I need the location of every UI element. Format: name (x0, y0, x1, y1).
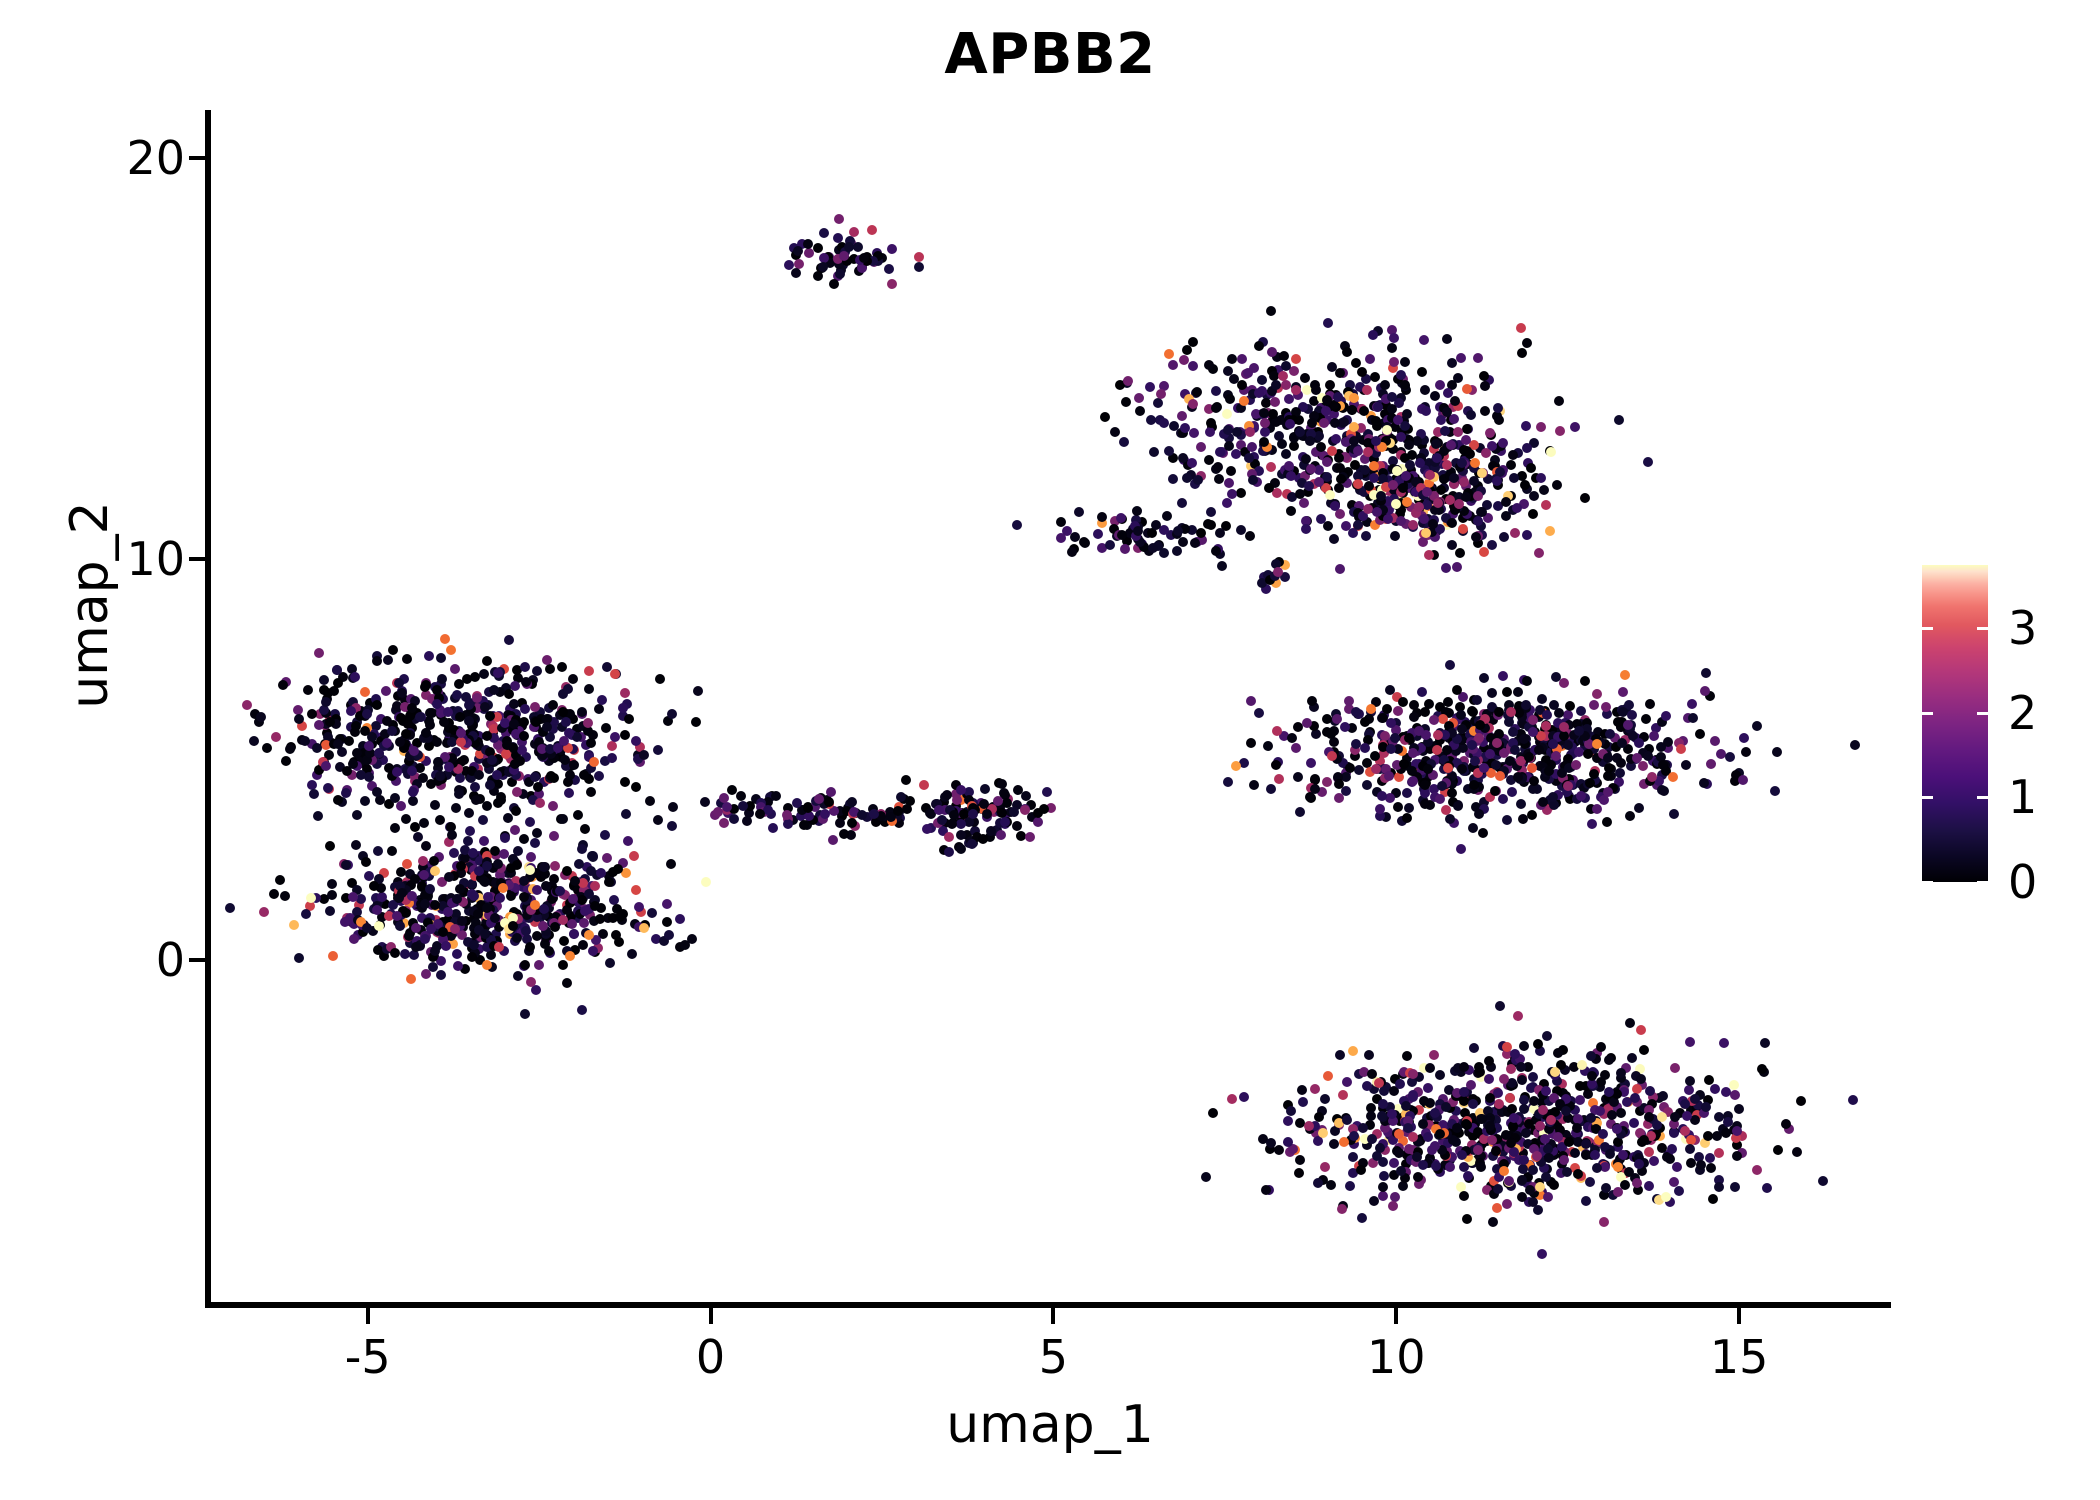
scatter-point (539, 904, 549, 914)
scatter-point (956, 830, 966, 840)
scatter-point (1457, 724, 1467, 734)
scatter-point (693, 686, 703, 696)
scatter-point (1570, 422, 1580, 432)
x-tick-label: -5 (345, 1330, 391, 1384)
scatter-point (1555, 426, 1565, 436)
scatter-point (1110, 427, 1120, 437)
scatter-point (1105, 540, 1115, 550)
scatter-point (1463, 1171, 1473, 1181)
scatter-point (610, 732, 620, 742)
scatter-point (443, 707, 453, 717)
scatter-point (390, 823, 400, 833)
scatter-point (634, 902, 644, 912)
scatter-point (1741, 747, 1751, 757)
scatter-point (444, 762, 454, 772)
scatter-point (1719, 1038, 1729, 1048)
scatter-point (1592, 1163, 1602, 1173)
scatter-point (1469, 1043, 1479, 1053)
scatter-point (847, 818, 857, 828)
scatter-point (1360, 743, 1370, 753)
scatter-point (520, 1009, 530, 1019)
scatter-point (387, 846, 397, 856)
scatter-point (1279, 351, 1289, 361)
scatter-point (1848, 1095, 1858, 1105)
scatter-point (1323, 521, 1333, 531)
scatter-point (1668, 772, 1678, 782)
scatter-point (1281, 380, 1291, 390)
scatter-point (1564, 1137, 1574, 1147)
scatter-point (1674, 1186, 1684, 1196)
scatter-point (454, 679, 464, 689)
scatter-point (1796, 1096, 1806, 1106)
scatter-point (914, 262, 924, 272)
scatter-point (1266, 306, 1276, 316)
scatter-point (1100, 412, 1110, 422)
scatter-point (1188, 337, 1198, 347)
scatter-point (548, 700, 558, 710)
scatter-point (1526, 463, 1536, 473)
scatter-point (498, 883, 508, 893)
scatter-plot-canvas (210, 110, 1890, 1305)
scatter-point (301, 909, 311, 919)
scatter-point (1025, 832, 1035, 842)
scatter-point (333, 795, 343, 805)
scatter-point (1388, 1201, 1398, 1211)
scatter-point (1420, 799, 1430, 809)
colorbar-tick-label: 1 (2008, 770, 2037, 824)
scatter-point (1624, 1167, 1634, 1177)
scatter-point (333, 678, 343, 688)
scatter-point (1362, 385, 1372, 395)
scatter-point (1596, 1042, 1606, 1052)
scatter-point (620, 730, 630, 740)
scatter-point (1148, 543, 1158, 553)
scatter-point (1227, 354, 1237, 364)
scatter-point (1295, 1155, 1305, 1165)
y-axis-label: umap_2 (60, 305, 120, 905)
scatter-point (394, 678, 404, 688)
scatter-point (1499, 1166, 1509, 1176)
scatter-point (1534, 548, 1544, 558)
scatter-point (829, 279, 839, 289)
scatter-point (569, 760, 579, 770)
scatter-point (1554, 396, 1564, 406)
scatter-point (1509, 1147, 1519, 1157)
scatter-point (372, 905, 382, 915)
scatter-point (479, 836, 489, 846)
scatter-point (1509, 473, 1519, 483)
scatter-point (1226, 466, 1236, 476)
scatter-point (249, 736, 259, 746)
scatter-point (1462, 1120, 1472, 1130)
scatter-point (1459, 1191, 1469, 1201)
colorbar[interactable] (1922, 565, 1988, 882)
scatter-point (328, 951, 338, 961)
scatter-point (492, 770, 502, 780)
scatter-point (1580, 676, 1590, 686)
scatter-point (1380, 380, 1390, 390)
scatter-point (567, 919, 577, 929)
scatter-point (1586, 1051, 1596, 1061)
colorbar-tick-mark (1922, 881, 1933, 884)
scatter-point (1274, 1145, 1284, 1155)
scatter-point (504, 635, 514, 645)
scatter-point (1661, 711, 1671, 721)
scatter-point (275, 875, 285, 885)
scatter-point (1616, 758, 1626, 768)
scatter-point (584, 930, 594, 940)
scatter-point (1310, 784, 1320, 794)
scatter-point (1607, 1110, 1617, 1120)
scatter-point (1589, 700, 1599, 710)
scatter-point (452, 894, 462, 904)
scatter-point (1420, 385, 1430, 395)
scatter-point (956, 819, 966, 829)
scatter-point (485, 780, 495, 790)
scatter-point (454, 789, 464, 799)
scatter-point (1445, 1162, 1455, 1172)
scatter-point (1146, 415, 1156, 425)
scatter-point (1418, 537, 1428, 547)
scatter-point (1442, 334, 1452, 344)
scatter-point (406, 974, 416, 984)
scatter-point (271, 732, 281, 742)
scatter-point (397, 888, 407, 898)
scatter-point (1398, 697, 1408, 707)
scatter-point (1259, 437, 1269, 447)
scatter-point (1752, 1165, 1762, 1175)
scatter-point (1669, 809, 1679, 819)
scatter-point (1375, 1143, 1385, 1153)
scatter-point (565, 951, 575, 961)
scatter-point (1625, 1018, 1635, 1028)
scatter-point (618, 909, 628, 919)
scatter-point (1521, 421, 1531, 431)
scatter-point (1383, 514, 1393, 524)
scatter-point (828, 835, 838, 845)
scatter-point (1468, 823, 1478, 833)
scatter-point (1484, 1074, 1494, 1084)
scatter-point (1546, 447, 1556, 457)
scatter-point (1314, 477, 1324, 487)
scatter-point (1270, 397, 1280, 407)
scatter-point (1605, 1149, 1615, 1159)
scatter-point (934, 805, 944, 815)
scatter-point (1415, 458, 1425, 468)
scatter-point (1322, 777, 1332, 787)
scatter-point (1559, 1155, 1569, 1165)
scatter-point (426, 779, 436, 789)
scatter-point (262, 743, 272, 753)
scatter-point (620, 777, 630, 787)
scatter-point (691, 717, 701, 727)
scatter-point (1455, 548, 1465, 558)
scatter-point (1522, 443, 1532, 453)
scatter-point (978, 834, 988, 844)
scatter-point (602, 853, 612, 863)
scatter-point (420, 899, 430, 909)
scatter-point (500, 833, 510, 843)
scatter-point (1575, 1095, 1585, 1105)
scatter-point (530, 838, 540, 848)
scatter-point (1549, 700, 1559, 710)
scatter-point (639, 750, 649, 760)
scatter-point (655, 674, 665, 684)
scatter-point (1305, 436, 1315, 446)
scatter-point (647, 908, 657, 918)
scatter-point (450, 664, 460, 674)
scatter-point (1337, 1204, 1347, 1214)
scatter-point (1649, 1156, 1659, 1166)
scatter-point (1473, 353, 1483, 363)
scatter-point (1364, 1050, 1374, 1060)
scatter-point (1389, 357, 1399, 367)
scatter-point (884, 264, 894, 274)
scatter-point (1056, 517, 1066, 527)
scatter-point (1519, 1041, 1529, 1051)
scatter-point (1325, 380, 1335, 390)
scatter-point (1710, 1084, 1720, 1094)
scatter-point (495, 893, 505, 903)
scatter-point (409, 746, 419, 756)
scatter-point (1477, 468, 1487, 478)
scatter-point (1441, 563, 1451, 573)
scatter-point (281, 756, 291, 766)
scatter-point (1522, 676, 1532, 686)
scatter-point (372, 700, 382, 710)
scatter-point (1730, 1090, 1740, 1100)
scatter-point (1042, 787, 1052, 797)
scatter-point (1478, 828, 1488, 838)
scatter-point (306, 893, 316, 903)
scatter-point (544, 946, 554, 956)
scatter-point (896, 792, 906, 802)
scatter-point (1206, 507, 1216, 517)
scatter-point (478, 815, 488, 825)
scatter-point (1423, 764, 1433, 774)
scatter-point (372, 656, 382, 666)
scatter-point (1445, 660, 1455, 670)
scatter-point (1685, 1037, 1695, 1047)
scatter-point (1295, 1118, 1305, 1128)
scatter-point (569, 929, 579, 939)
scatter-point (1456, 844, 1466, 854)
scatter-point (1681, 760, 1691, 770)
scatter-point (1012, 520, 1022, 530)
scatter-point (1542, 710, 1552, 720)
scatter-point (562, 866, 572, 876)
scatter-point (450, 924, 460, 934)
scatter-point (1168, 474, 1178, 484)
scatter-point (428, 962, 438, 972)
scatter-point (294, 714, 304, 724)
scatter-point (1529, 491, 1539, 501)
scatter-point (839, 251, 849, 261)
scatter-point (859, 253, 869, 263)
scatter-point (1402, 788, 1412, 798)
scatter-point (1119, 437, 1129, 447)
scatter-point (525, 942, 535, 952)
scatter-point (1224, 478, 1234, 488)
scatter-point (425, 884, 435, 894)
scatter-point (1421, 406, 1431, 416)
scatter-point (1204, 455, 1214, 465)
scatter-point (1313, 1178, 1323, 1188)
scatter-point (499, 849, 509, 859)
scatter-point (1585, 1177, 1595, 1187)
scatter-point (1541, 1172, 1551, 1182)
scatter-point (1203, 519, 1213, 529)
scatter-point (1319, 418, 1329, 428)
scatter-point (1382, 704, 1392, 714)
scatter-point (395, 921, 405, 931)
scatter-point (1159, 548, 1169, 558)
scatter-point (1428, 519, 1438, 529)
scatter-point (436, 970, 446, 980)
scatter-point (321, 761, 331, 771)
scatter-point (580, 824, 590, 834)
scatter-point (1450, 396, 1460, 406)
scatter-point (565, 770, 575, 780)
scatter-point (1522, 338, 1532, 348)
scatter-point (455, 884, 465, 894)
y-tick-mark (189, 958, 205, 962)
scatter-point (325, 906, 335, 916)
scatter-point (1513, 687, 1523, 697)
colorbar-tick-mark (1977, 627, 1988, 630)
scatter-point (1378, 1182, 1388, 1192)
scatter-point (1121, 397, 1131, 407)
scatter-point (1342, 1077, 1352, 1087)
scatter-point (444, 872, 454, 882)
scatter-point (1384, 771, 1394, 781)
scatter-point (578, 940, 588, 950)
scatter-point (1388, 480, 1398, 490)
scatter-point (1644, 1181, 1654, 1191)
x-tick-mark (1394, 1308, 1398, 1324)
scatter-point (323, 783, 333, 793)
scatter-point (1375, 804, 1385, 814)
scatter-point (1429, 715, 1439, 725)
scatter-point (1592, 804, 1602, 814)
scatter-point (834, 214, 844, 224)
scatter-point (1420, 707, 1430, 717)
scatter-point (542, 655, 552, 665)
scatter-point (1528, 1165, 1538, 1175)
scatter-point (1459, 1087, 1469, 1097)
scatter-point (1760, 1038, 1770, 1048)
scatter-point (1536, 473, 1546, 483)
scatter-point (1349, 1131, 1359, 1141)
scatter-point (1577, 1060, 1587, 1070)
scatter-point (1658, 1091, 1668, 1101)
scatter-point (1322, 395, 1332, 405)
scatter-point (510, 759, 520, 769)
scatter-point (1576, 791, 1586, 801)
scatter-point (407, 891, 417, 901)
scatter-point (869, 809, 879, 819)
scatter-point (568, 674, 578, 684)
scatter-point (1540, 1134, 1550, 1144)
scatter-point (372, 787, 382, 797)
scatter-point (1545, 526, 1555, 536)
scatter-point (512, 787, 522, 797)
scatter-point (449, 848, 459, 858)
scatter-point (419, 818, 429, 828)
scatter-point (559, 736, 569, 746)
scatter-point (364, 871, 374, 881)
scatter-point (1225, 394, 1235, 404)
scatter-point (1168, 360, 1178, 370)
scatter-point (513, 971, 523, 981)
scatter-point (1301, 524, 1311, 534)
scatter-point (1021, 791, 1031, 801)
scatter-point (439, 717, 449, 727)
scatter-point (1300, 373, 1310, 383)
scatter-point (509, 699, 519, 709)
scatter-point (289, 920, 299, 930)
scatter-point (1738, 775, 1748, 785)
scatter-point (1193, 475, 1203, 485)
colorbar-tick-mark (1922, 712, 1933, 715)
scatter-point (1404, 803, 1414, 813)
scatter-point (1670, 1112, 1680, 1122)
scatter-point (436, 653, 446, 663)
scatter-point (1480, 381, 1490, 391)
x-tick-mark (1737, 1308, 1741, 1324)
scatter-point (667, 821, 677, 831)
scatter-point (1295, 807, 1305, 817)
scatter-point (313, 811, 323, 821)
scatter-point (1357, 1213, 1367, 1223)
scatter-point (1342, 347, 1352, 357)
scatter-point (1334, 483, 1344, 493)
scatter-point (1573, 1169, 1583, 1179)
scatter-point (327, 890, 337, 900)
scatter-point (1618, 687, 1628, 697)
scatter-point (424, 651, 434, 661)
scatter-point (605, 958, 615, 968)
scatter-point (548, 801, 558, 811)
scatter-point (1298, 1097, 1308, 1107)
scatter-point (512, 933, 522, 943)
scatter-point (1507, 1104, 1517, 1114)
scatter-point (563, 684, 573, 694)
scatter-point (1516, 799, 1526, 809)
scatter-point (1201, 1172, 1211, 1182)
scatter-point (1287, 733, 1297, 743)
scatter-point (1528, 509, 1538, 519)
scatter-point (1732, 1126, 1742, 1136)
scatter-point (1518, 1164, 1528, 1174)
scatter-point (1189, 428, 1199, 438)
scatter-point (1770, 786, 1780, 796)
scatter-point (1295, 427, 1305, 437)
scatter-point (1447, 788, 1457, 798)
scatter-point (1502, 815, 1512, 825)
scatter-point (1502, 687, 1512, 697)
scatter-point (1630, 1093, 1640, 1103)
scatter-point (1420, 780, 1430, 790)
scatter-point (1326, 1180, 1336, 1190)
scatter-point (1260, 427, 1270, 437)
scatter-point (374, 921, 384, 931)
scatter-point (662, 917, 672, 927)
scatter-point (1188, 361, 1198, 371)
scatter-point (645, 796, 655, 806)
scatter-point (1407, 766, 1417, 776)
scatter-point (1366, 704, 1376, 714)
